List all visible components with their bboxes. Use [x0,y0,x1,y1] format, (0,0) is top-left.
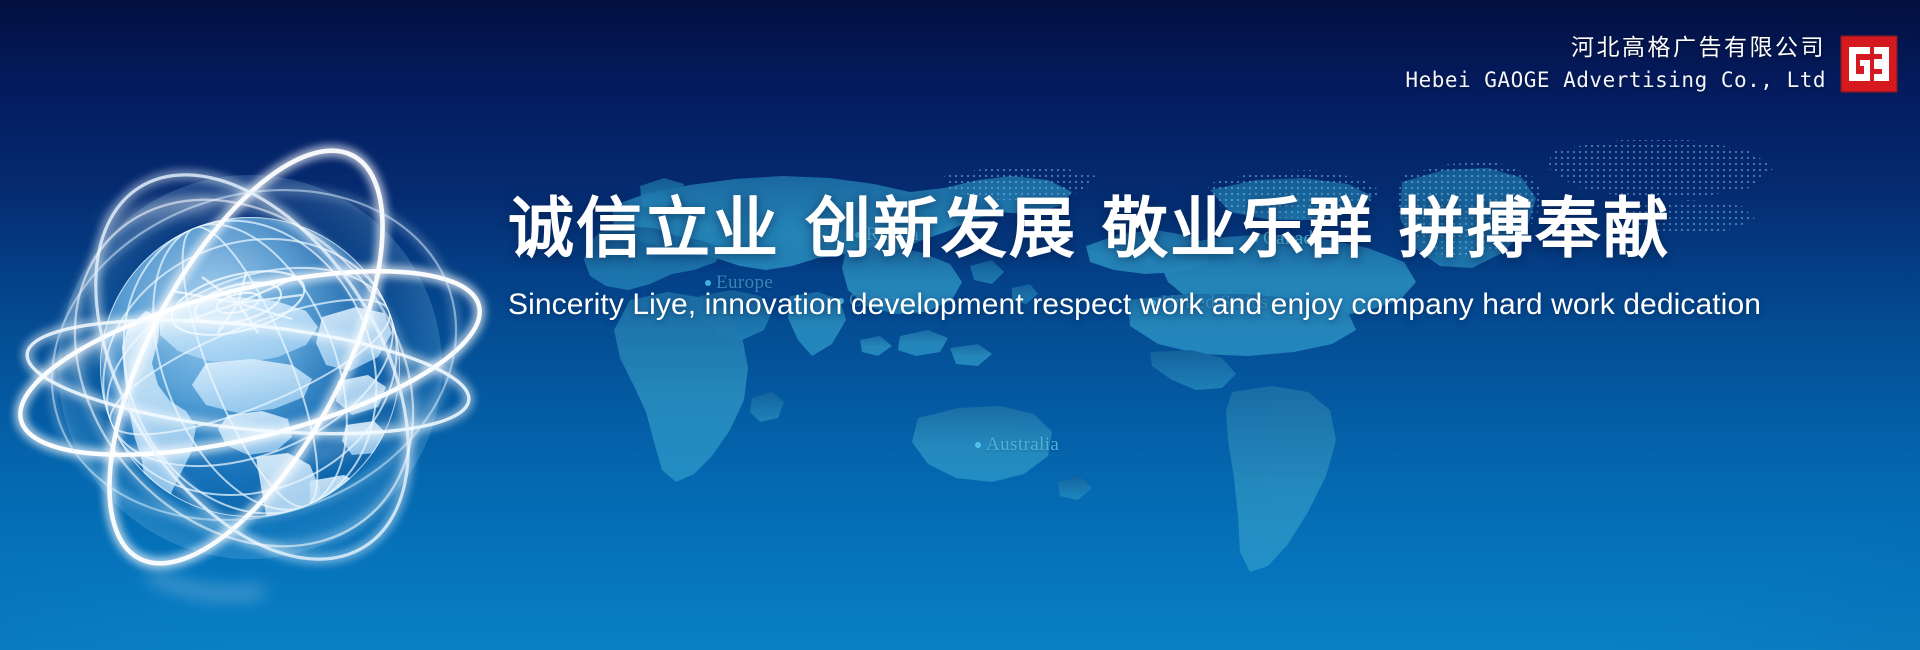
map-label-text: Australia [986,434,1059,455]
company-name-block: 河北高格广告有限公司 Hebei GAOGE Advertising Co., … [1405,34,1826,94]
world-map-graphic [0,0,1920,650]
promo-banner: Russia Europe China Canada United States… [0,0,1920,650]
company-logo-icon [1840,35,1898,93]
slogan-english: Sincerity Liye, innovation development r… [508,288,1818,322]
globe-graphic [0,105,500,625]
map-label-australia: Australia [975,434,1059,456]
map-pin-icon [975,442,981,448]
company-name-en: Hebei GAOGE Advertising Co., Ltd [1405,67,1826,94]
slogan-block: 诚信立业 创新发展 敬业乐群 拼搏奉献 Sincerity Liye, inno… [508,196,1818,322]
company-header: 河北高格广告有限公司 Hebei GAOGE Advertising Co., … [1405,34,1898,94]
company-name-cn: 河北高格广告有限公司 [1405,34,1826,63]
slogan-chinese: 诚信立业 创新发展 敬业乐群 拼搏奉献 [508,196,1818,262]
vignette-overlay [0,0,1920,650]
